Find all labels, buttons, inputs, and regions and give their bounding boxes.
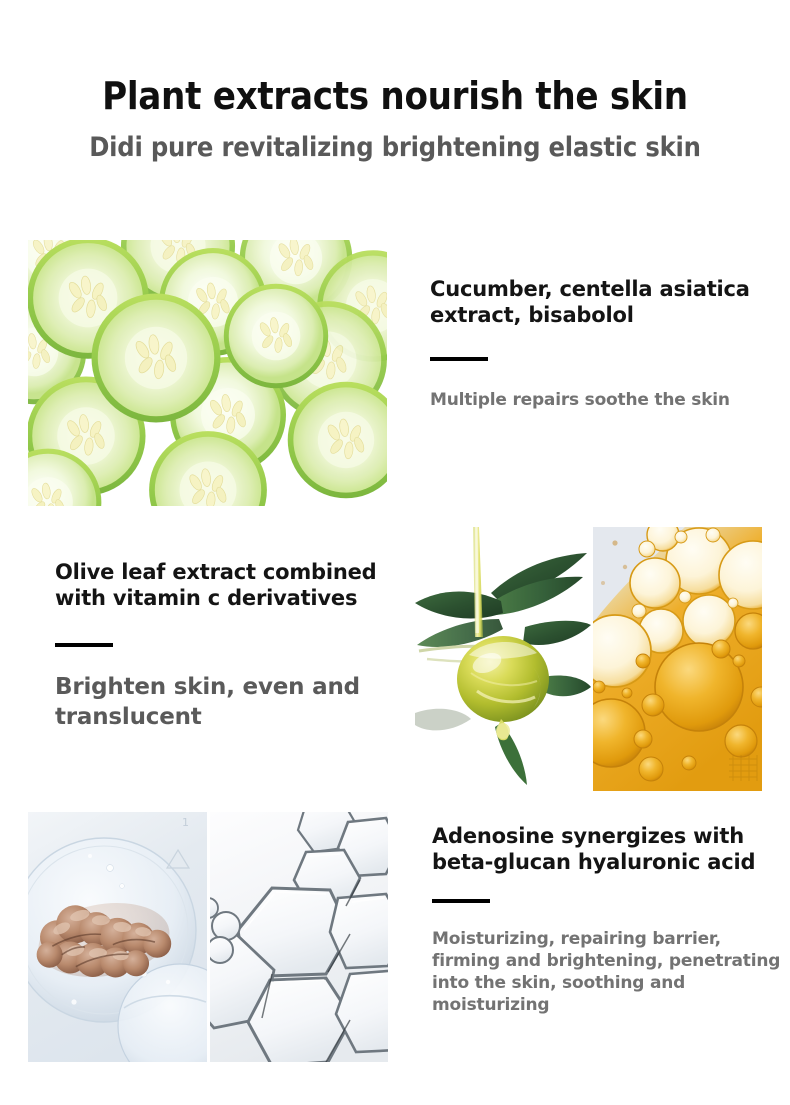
- bubbles-photo: [210, 812, 388, 1062]
- feature-heading-cucumber: Cucumber, centella asiatica extract, bis…: [430, 276, 780, 328]
- oil-photo: [593, 527, 762, 791]
- feature-subtext-cucumber: Multiple repairs soothe the skin: [430, 389, 780, 412]
- divider-rule: [55, 643, 113, 647]
- feature-subtext-adenosine: Moisturizing, repairing barrier, firming…: [432, 928, 784, 1016]
- feature-heading-olive: Olive leaf extract combined with vitamin…: [55, 559, 410, 611]
- feature-heading-adenosine: Adenosine synergizes with beta-glucan hy…: [432, 823, 784, 875]
- olive-photo: [415, 527, 591, 791]
- fungus-photo: 1: [28, 812, 207, 1062]
- feature-block-cucumber: Cucumber, centella asiatica extract, bis…: [430, 276, 780, 412]
- svg-text:1: 1: [182, 816, 189, 829]
- feature-block-olive: Olive leaf extract combined with vitamin…: [55, 559, 410, 732]
- cucumber-photo: [28, 240, 387, 506]
- divider-rule: [432, 899, 490, 903]
- page-title: Plant extracts nourish the skin: [0, 0, 790, 118]
- page-header: Plant extracts nourish the skin Didi pur…: [0, 0, 790, 164]
- feature-subtext-olive: Brighten skin, even and translucent: [55, 672, 410, 732]
- feature-block-adenosine: Adenosine synergizes with beta-glucan hy…: [432, 823, 784, 1016]
- page-subtitle: Didi pure revitalizing brightening elast…: [0, 118, 790, 164]
- divider-rule: [430, 357, 488, 361]
